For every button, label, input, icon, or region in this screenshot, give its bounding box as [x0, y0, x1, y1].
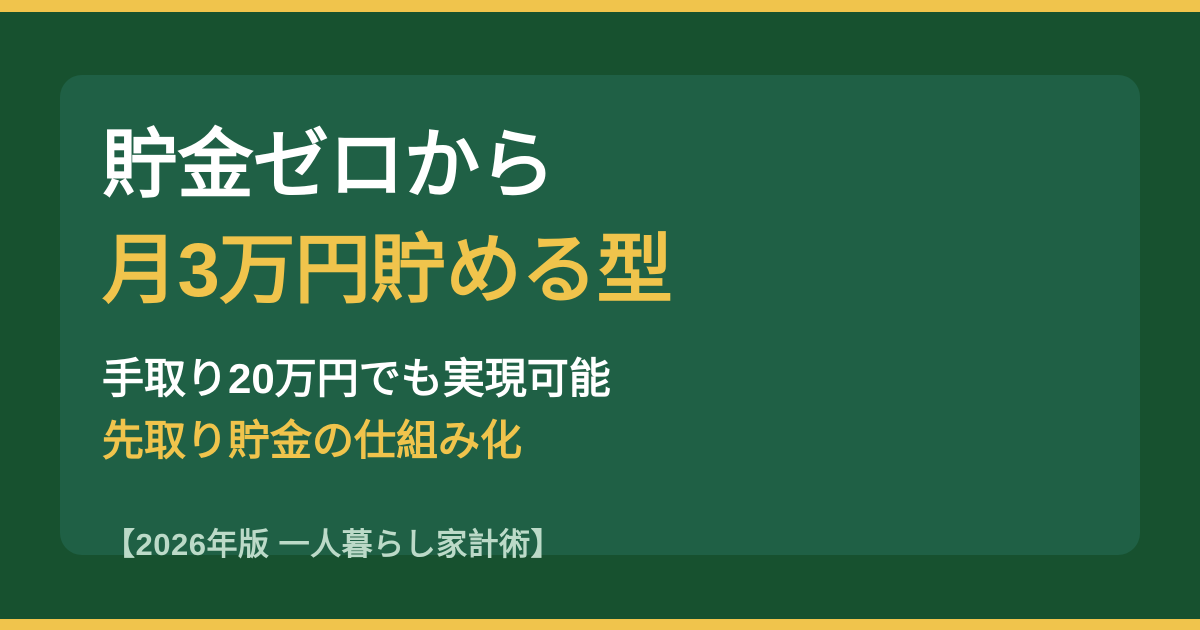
page-title: 貯金ゼロから 月3万円貯める型 — [102, 113, 672, 323]
headline-line-2: 月3万円貯める型 — [102, 218, 672, 323]
headline-line-1: 貯金ゼロから — [102, 113, 672, 218]
card-content: 貯金ゼロから 月3万円貯める型 手取り20万円でも実現可能 先取り貯金の仕組み化… — [0, 0, 1200, 630]
status-badge: 【2026年版 一人暮らし家計術】 — [104, 524, 562, 566]
page-subtitle: 手取り20万円でも実現可能 先取り貯金の仕組み化 — [102, 348, 611, 472]
subheadline-line-1: 手取り20万円でも実現可能 — [102, 348, 611, 410]
subheadline-line-2: 先取り貯金の仕組み化 — [102, 410, 611, 472]
share-card: 貯金ゼロから 月3万円貯める型 手取り20万円でも実現可能 先取り貯金の仕組み化… — [0, 0, 1200, 630]
